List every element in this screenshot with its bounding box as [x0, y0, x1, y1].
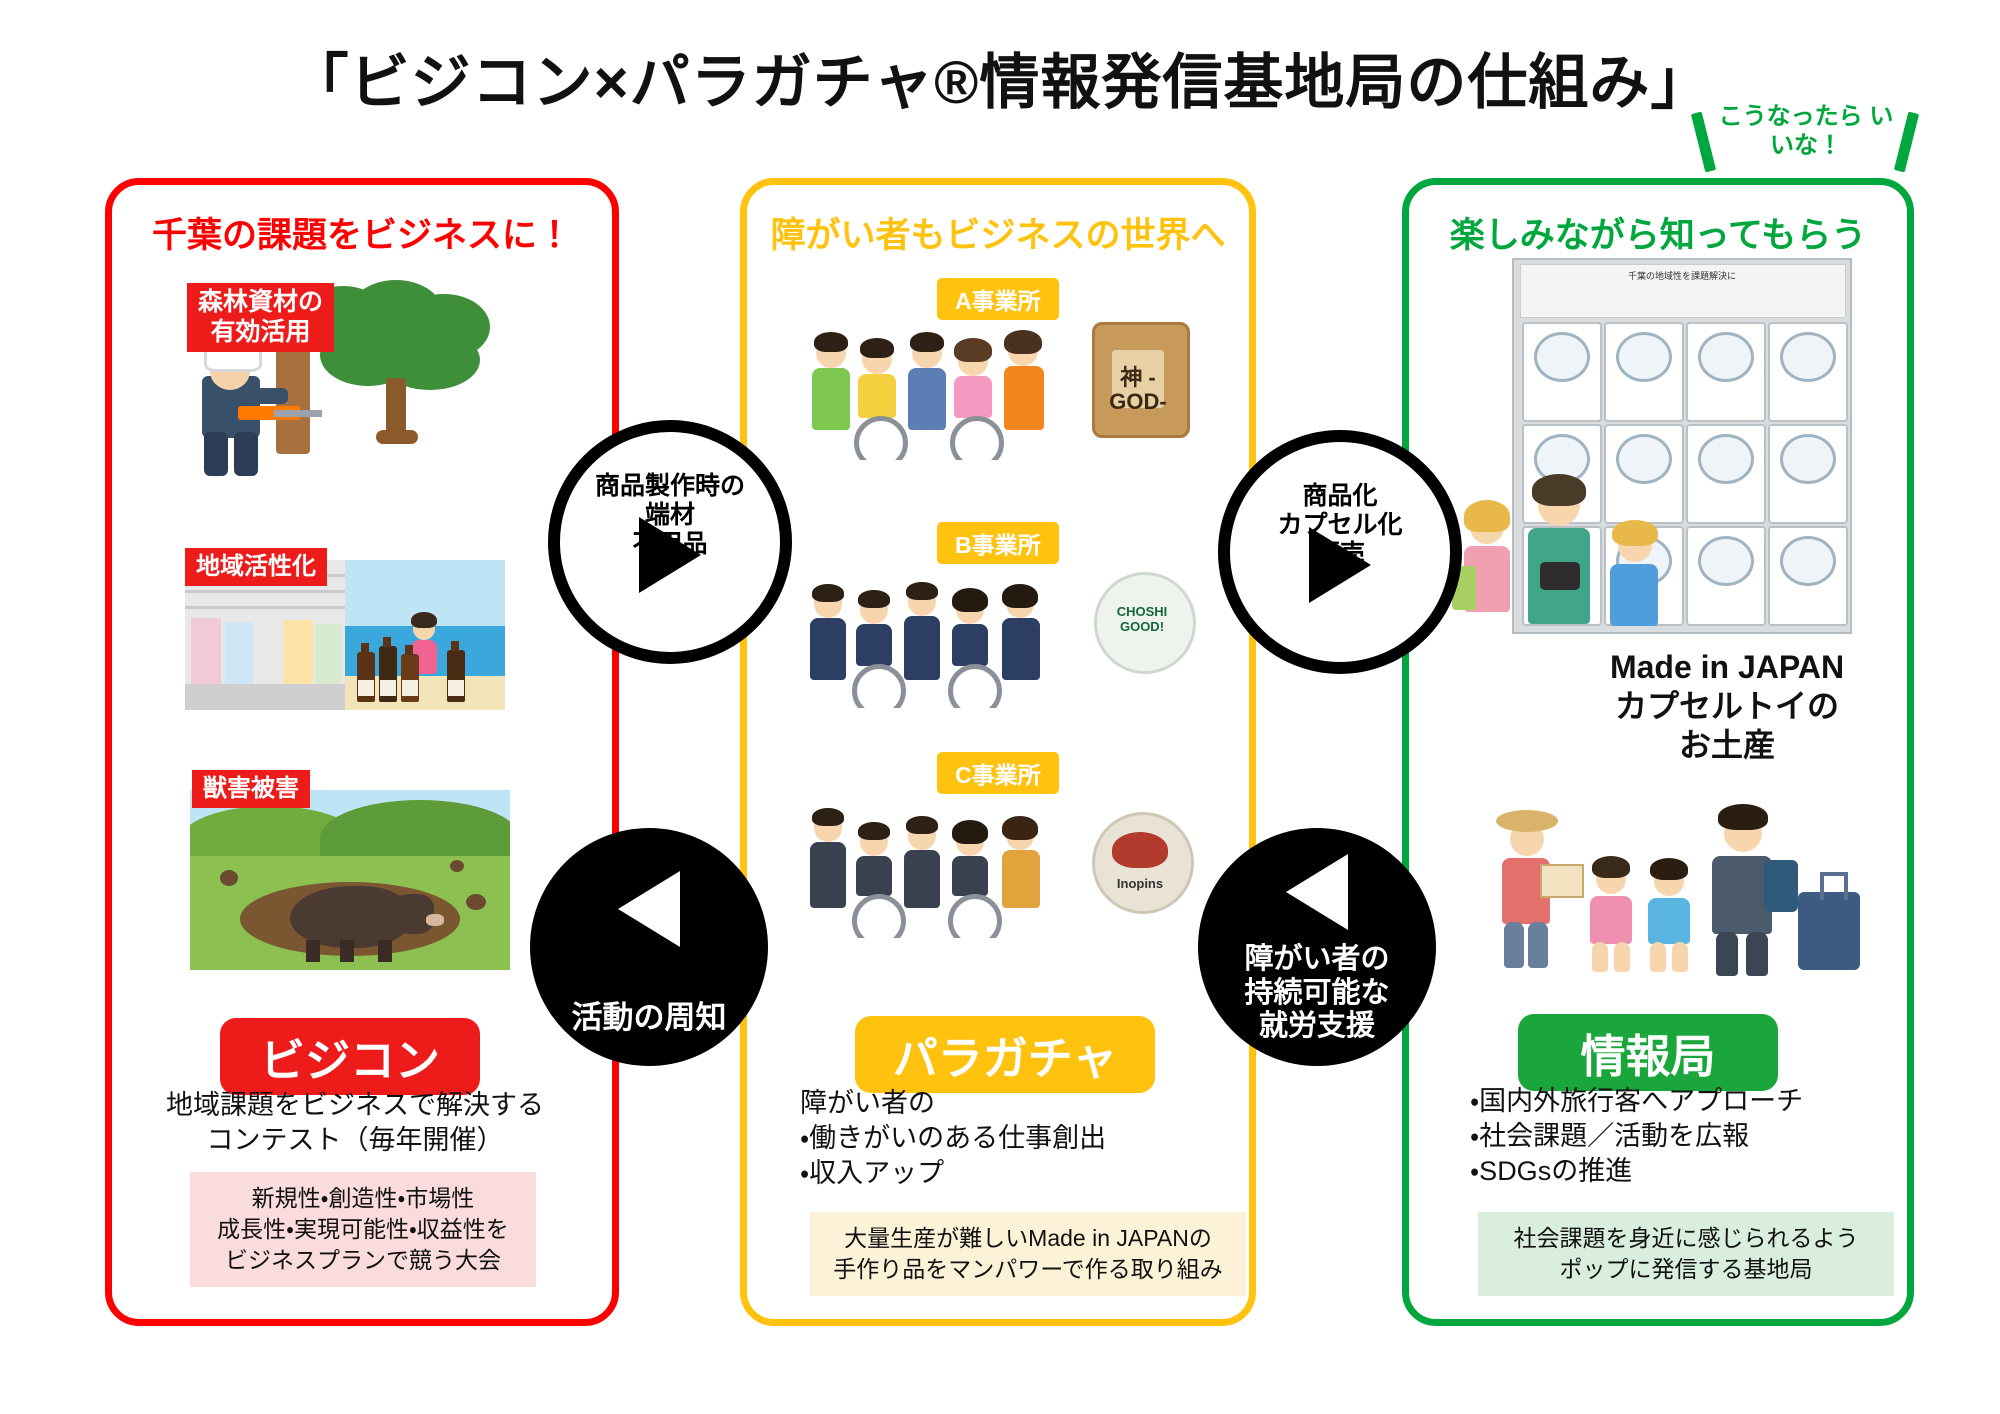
- flow-circle-3-label: 活動の周知: [530, 1000, 768, 1036]
- illustration-group-b: [800, 568, 1080, 708]
- product-label-b: CHOSHI GOOD!: [1098, 604, 1186, 634]
- note-bar-left: [1691, 112, 1716, 173]
- badge-local: 地域活性化: [185, 548, 327, 586]
- product-label-a: 神 -GOD-: [1092, 366, 1184, 414]
- illustration-group-c: [800, 798, 1080, 938]
- column-right-header: 楽しみながら知ってもらう: [1409, 207, 1907, 258]
- illustration-wildlife-damage: [190, 790, 510, 970]
- note-bar-right: [1894, 112, 1919, 173]
- badge-office-a: A事業所: [937, 278, 1059, 320]
- flow-circle-2: 商品化 カプセル化 販売: [1218, 430, 1462, 674]
- desc-left: 地域課題をビジネスで解決する コンテスト（毎年開催）: [135, 1088, 575, 1158]
- caption-souvenir: Made in JAPAN カプセルトイの お土産: [1562, 648, 1892, 765]
- badge-forest: 森林資材の 有効活用: [187, 283, 334, 352]
- pill-johokyoku: 情報局: [1518, 1014, 1778, 1091]
- illustration-tourists-shopping: [1452, 466, 1732, 666]
- flow-circle-1: 商品製作時の 端材 不用品: [548, 420, 792, 664]
- pill-paragacha: パラガチャ: [855, 1016, 1155, 1093]
- flow-circle-4: 障がい者の 持続可能な 就労支援: [1198, 828, 1436, 1066]
- play-triangle-right-icon: [639, 517, 701, 593]
- desc-right: ・国内外旅行客へアプローチ ・社会課題／活動を広報 ・SDGsの推進: [1470, 1084, 1900, 1189]
- flow-circle-4-label: 障がい者の 持続可能な 就労支援: [1198, 943, 1436, 1044]
- play-triangle-right-icon-2: [1309, 527, 1371, 603]
- speech-note: こうなったら いいな！: [1690, 96, 1920, 180]
- illustration-tourist-family: [1468, 780, 1888, 980]
- footnote-right: 社会課題を身近に感じられるよう ポップに発信する基地局: [1478, 1212, 1894, 1296]
- column-middle-header: 障がい者もビジネスの世界へ: [747, 207, 1249, 258]
- play-triangle-left-icon-2: [1286, 854, 1348, 930]
- play-triangle-left-icon: [618, 871, 680, 947]
- footnote-left: 新規性・創造性・市場性 成長性・実現可能性・収益性を ビジネスプランで競う大会: [190, 1172, 536, 1287]
- gacha-poster-text: 千葉の地域性を課題解決に: [1522, 270, 1842, 284]
- pill-bijicon: ビジコン: [220, 1018, 480, 1095]
- footnote-middle: 大量生産が難しいMade in JAPANの 手作り品をマンパワーで作る取り組み: [810, 1212, 1246, 1296]
- note-text: こうなったら いいな！: [1716, 102, 1896, 161]
- column-left-header: 千葉の課題をビジネスに！: [112, 207, 612, 258]
- badge-wildlife: 獣害被害: [192, 770, 310, 808]
- infographic-canvas: 「ビジコン×パラガチャ®情報発信基地局の仕組み」 こうなったら いいな！ 千葉の…: [0, 0, 2000, 1414]
- product-label-c: Inopins: [1096, 876, 1184, 891]
- flow-circle-3: 活動の周知: [530, 828, 768, 1066]
- badge-office-c: C事業所: [937, 752, 1059, 794]
- badge-office-b: B事業所: [937, 522, 1059, 564]
- desc-middle: 障がい者の ・働きがいのある仕事創出 ・収入アップ: [800, 1086, 1230, 1191]
- illustration-group-a: [800, 320, 1080, 460]
